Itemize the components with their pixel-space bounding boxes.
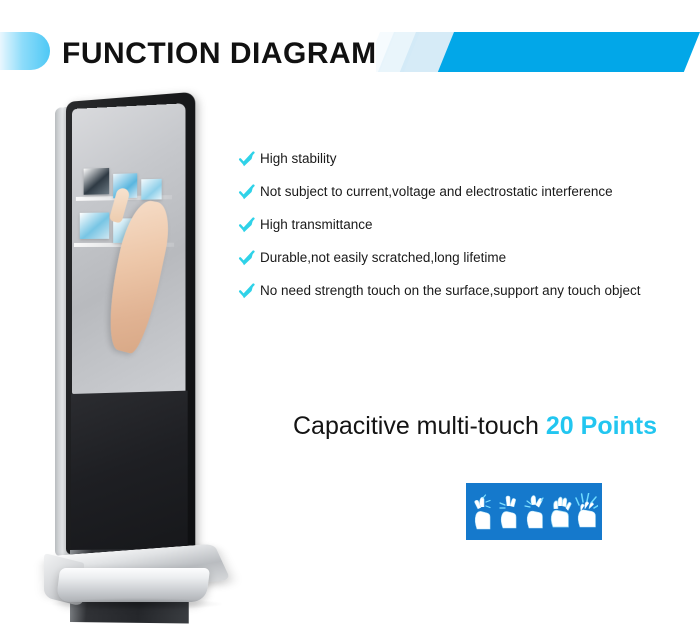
kiosk-base-front bbox=[56, 568, 210, 602]
check-icon bbox=[238, 150, 260, 168]
kiosk-screen-lower bbox=[71, 391, 188, 561]
feature-text: High transmittance bbox=[260, 216, 373, 234]
list-item: No need strength touch on the surface,su… bbox=[238, 282, 690, 302]
stripe-main bbox=[438, 32, 700, 72]
check-icon bbox=[238, 216, 260, 234]
list-item: High transmittance bbox=[238, 216, 690, 236]
feature-text: Durable,not easily scratched,long lifeti… bbox=[260, 249, 506, 267]
tagline-accent: 20 Points bbox=[546, 412, 657, 440]
tagline: Capacitive multi-touch 20 Points bbox=[293, 412, 657, 441]
check-icon bbox=[238, 183, 260, 201]
list-item: High stability bbox=[238, 150, 690, 170]
screen-panel-4 bbox=[80, 212, 109, 238]
five-finger-gesture-icon bbox=[549, 493, 572, 531]
swipe-gesture-icon bbox=[497, 493, 520, 531]
tap-gesture-icon bbox=[471, 493, 494, 531]
screen-panel-3 bbox=[141, 179, 161, 200]
pinch-gesture-icon bbox=[523, 493, 546, 531]
check-icon bbox=[238, 249, 260, 267]
feature-text: No need strength touch on the surface,su… bbox=[260, 282, 641, 300]
multi-touch-burst-gesture-icon bbox=[575, 493, 598, 531]
page-title: FUNCTION DIAGRAM bbox=[62, 26, 377, 82]
feature-text: High stability bbox=[260, 150, 337, 168]
product-image-kiosk bbox=[38, 98, 238, 598]
gesture-bar bbox=[466, 483, 602, 540]
kiosk-floor-shadow bbox=[52, 598, 222, 610]
screen-panel-1 bbox=[84, 168, 110, 195]
check-icon bbox=[238, 282, 260, 300]
kiosk-screen-upper bbox=[72, 103, 186, 399]
page-header: FUNCTION DIAGRAM bbox=[0, 26, 700, 84]
feature-text: Not subject to current,voltage and elect… bbox=[260, 183, 613, 201]
feature-list: High stability Not subject to current,vo… bbox=[238, 150, 690, 315]
rounded-tab-decoration-icon bbox=[0, 32, 50, 70]
tagline-prefix: Capacitive multi-touch bbox=[293, 412, 546, 440]
list-item: Durable,not easily scratched,long lifeti… bbox=[238, 249, 690, 269]
list-item: Not subject to current,voltage and elect… bbox=[238, 183, 690, 203]
angled-stripe-decoration-icon bbox=[376, 32, 700, 72]
